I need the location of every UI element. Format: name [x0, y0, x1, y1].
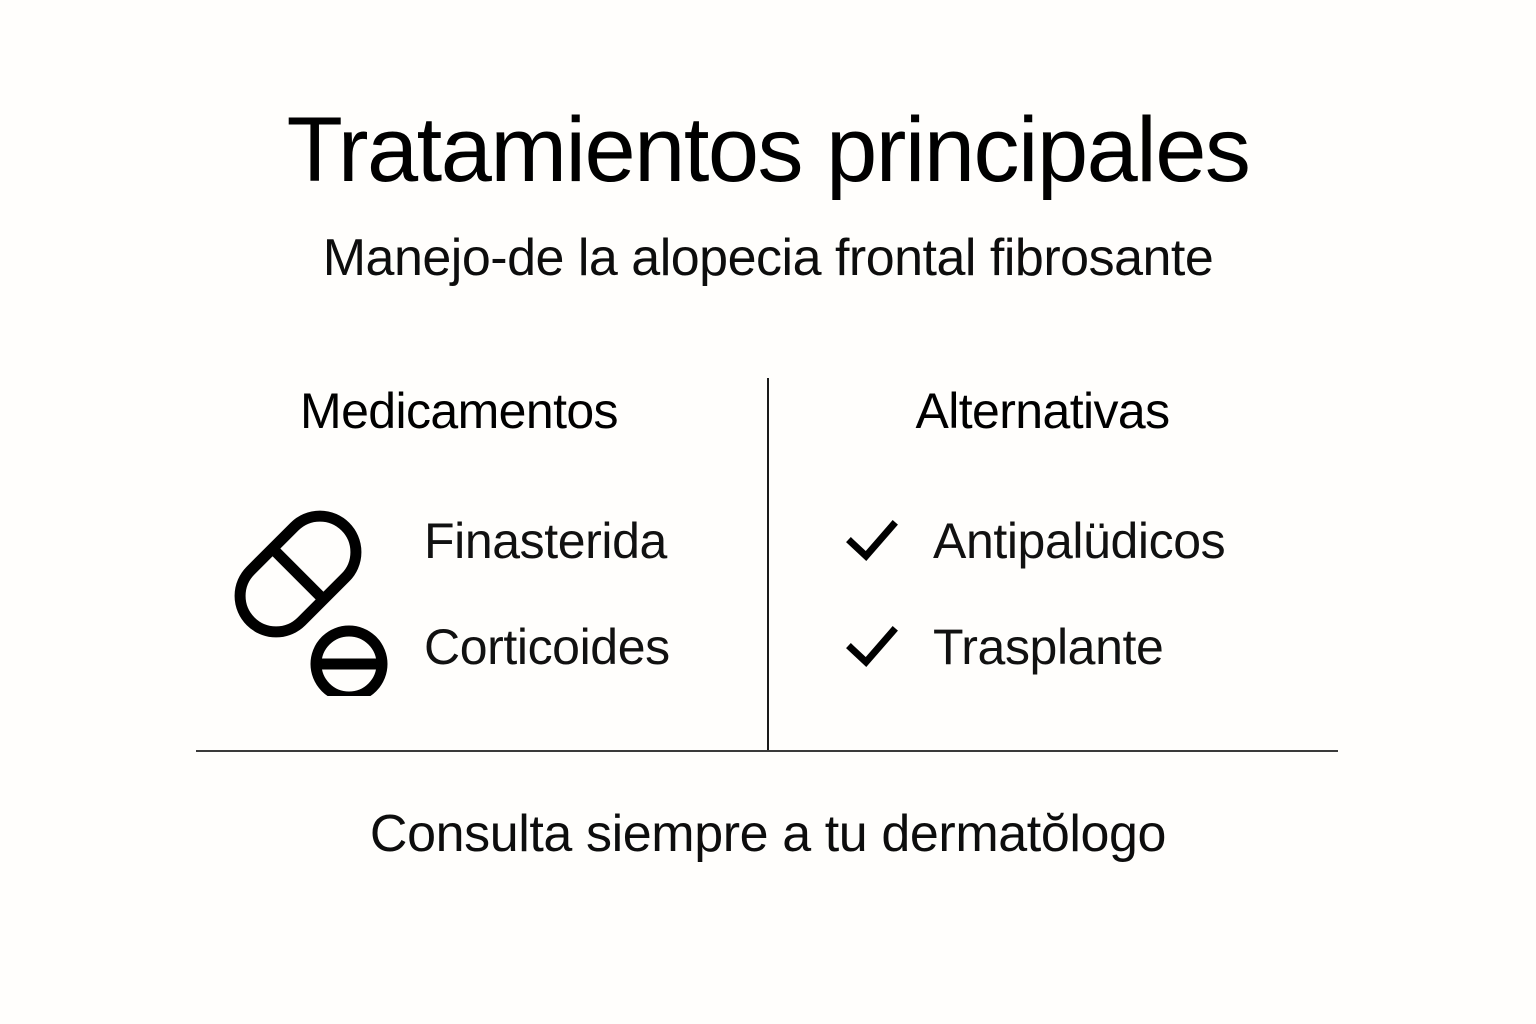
pill-capsule-and-tablet-icon [226, 496, 392, 696]
medicamentos-list: Finasterida Corticoides [424, 488, 764, 700]
list-item: Trasplante [769, 594, 1338, 700]
list-item-label: Trasplante [933, 622, 1163, 672]
list-item: Antipalüdicos [769, 488, 1338, 594]
horizontal-divider [196, 750, 1338, 752]
check-icon [845, 514, 899, 568]
list-item-label: Antipalüdicos [933, 516, 1225, 566]
infographic-canvas: Tratamientos principales Manejo-de la al… [0, 0, 1536, 1024]
footer-note: Consulta siempre a tu dermatŏlogo [0, 808, 1536, 860]
column-heading-medicamentos: Medicamentos [150, 386, 768, 436]
alternativas-body: Antipalüdicos Trasplante [769, 488, 1338, 728]
medicamentos-body: Finasterida Corticoides [196, 488, 768, 728]
list-item: Finasterida [424, 488, 764, 594]
list-item: Corticoides [424, 594, 764, 700]
check-icon [845, 620, 899, 674]
column-alternativas: Alternativas Antipalüdicos Trasplante [769, 386, 1338, 728]
page-subtitle: Manejo-de la alopecia frontal fibrosante [0, 232, 1536, 284]
column-heading-alternativas: Alternativas [747, 386, 1338, 436]
page-title: Tratamientos principales [0, 104, 1536, 196]
column-medicamentos: Medicamentos Finasterida Corticoides [196, 386, 768, 728]
